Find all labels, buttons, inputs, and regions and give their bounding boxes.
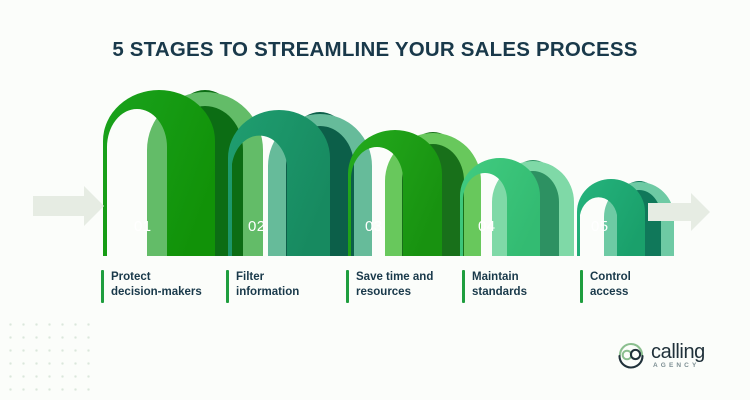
stage-caption-5: Control access <box>580 270 631 303</box>
logo-subtitle: AGENCY <box>653 363 705 370</box>
logo[interactable]: calling AGENCY <box>616 336 734 376</box>
stage-caption-5-text: Control access <box>590 270 631 300</box>
stage-caption-5-accent-bar <box>580 270 583 303</box>
stage-caption-3: Save time and resources <box>346 270 433 303</box>
logo-name: calling <box>651 342 705 362</box>
stage-caption-3-text: Save time and resources <box>356 270 433 300</box>
stage-caption-1: Protect decision-makers <box>101 270 202 303</box>
stage-caption-1-accent-bar <box>101 270 104 303</box>
stage-caption-2: Filter information <box>226 270 299 303</box>
calling-agency-circle-icon <box>616 341 646 371</box>
stage-caption-1-text: Protect decision-makers <box>111 270 202 300</box>
stage-number-4: 04 <box>478 218 496 235</box>
stage-number-3: 03 <box>365 218 383 235</box>
stage-caption-2-text: Filter information <box>236 270 299 300</box>
stage-number-5: 05 <box>591 218 609 235</box>
stage-arch-1[interactable] <box>103 90 263 256</box>
stage-caption-4: Maintain standards <box>462 270 527 303</box>
stage-number-1: 01 <box>134 218 152 235</box>
arrow-right-icon-entry <box>33 186 104 226</box>
logo-wordmark: calling AGENCY <box>651 342 705 370</box>
stage-caption-2-accent-bar <box>226 270 229 303</box>
stage-caption-4-text: Maintain standards <box>472 270 527 300</box>
stage-caption-4-accent-bar <box>462 270 465 303</box>
stage-number-2: 02 <box>248 218 266 235</box>
infographic-canvas: 5 STAGES TO STREAMLINE YOUR SALES PROCES… <box>0 0 750 400</box>
stage-caption-3-accent-bar <box>346 270 349 303</box>
